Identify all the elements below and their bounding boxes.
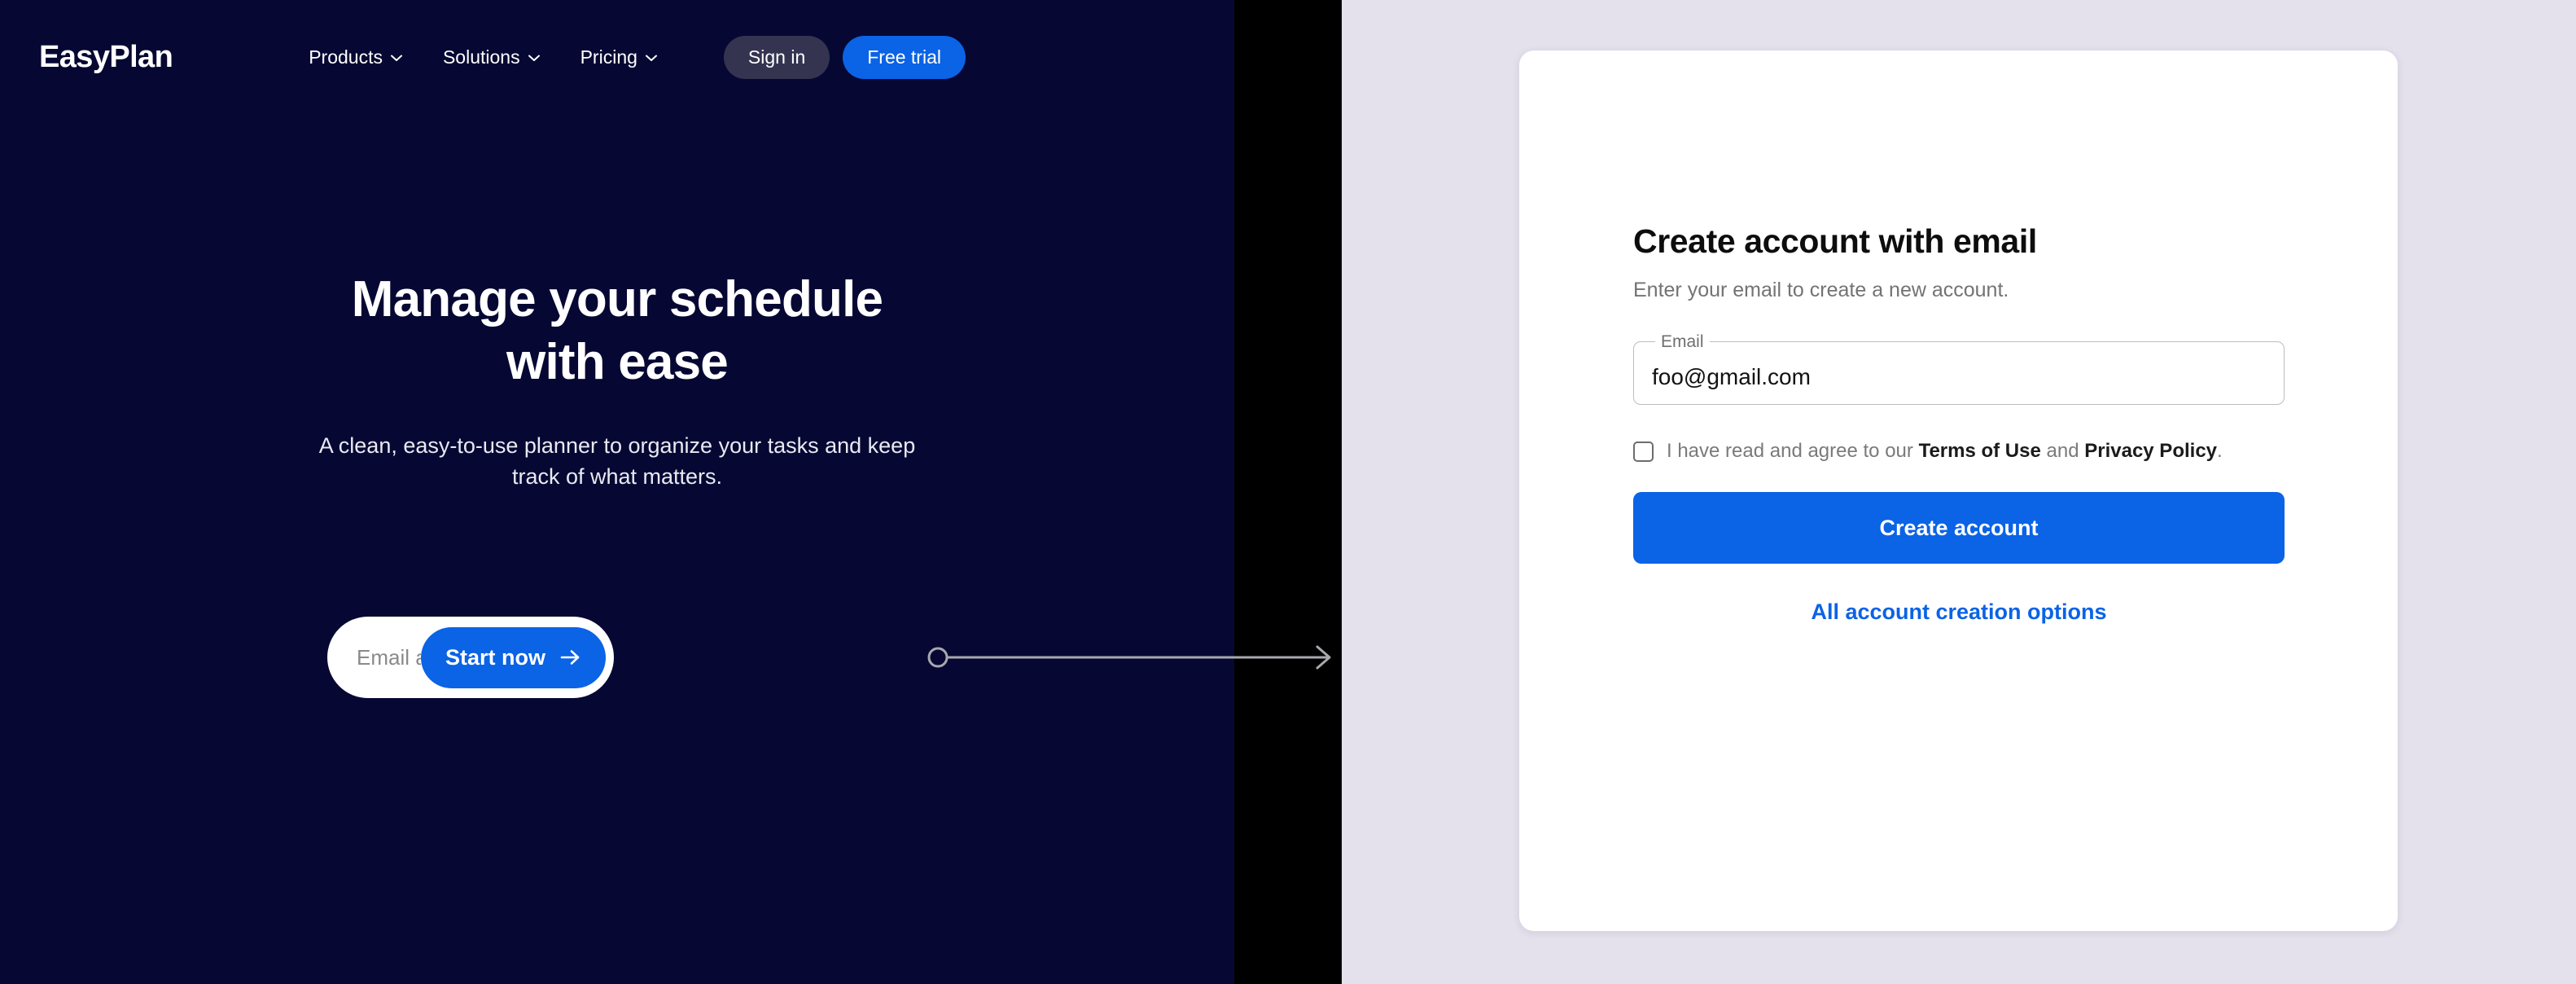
sign-in-button[interactable]: Sign in (724, 36, 830, 79)
marketing-panel: EasyPlan Products Solutions (0, 0, 1234, 984)
terms-suffix: . (2217, 440, 2223, 462)
create-account-card: Create account with email Enter your ema… (1519, 51, 2398, 931)
chevron-down-icon (391, 55, 402, 62)
email-field[interactable] (1652, 364, 2266, 390)
chevron-down-icon (528, 55, 540, 62)
nav-actions: Sign in Free trial (724, 36, 966, 79)
hero-subtitle: A clean, easy-to-use planner to organize… (0, 430, 1234, 493)
hero-section: Manage your schedule with ease A clean, … (0, 269, 1234, 493)
panel-divider-strip (1234, 0, 1342, 984)
page-title: Manage your schedule with ease (0, 269, 1234, 394)
nav-item-solutions[interactable]: Solutions (443, 46, 540, 68)
terms-agreement-text: I have read and agree to our Terms of Us… (1667, 440, 2223, 463)
primary-nav: Products Solutions Pricing (309, 46, 657, 68)
create-account-button[interactable]: Create account (1633, 492, 2285, 564)
card-subtitle: Enter your email to create a new account… (1633, 277, 2285, 304)
card-title: Create account with email (1633, 222, 2285, 261)
arrow-right-icon (560, 648, 581, 666)
email-field-label: Email (1655, 333, 1710, 350)
create-account-card-body: Create account with email Enter your ema… (1633, 222, 2285, 625)
nav-item-pricing[interactable]: Pricing (580, 46, 657, 68)
signup-panel: Create account with email Enter your ema… (1342, 0, 2576, 984)
privacy-policy-link[interactable]: Privacy Policy (2084, 440, 2217, 462)
terms-checkbox[interactable] (1633, 441, 1654, 462)
nav-item-products-label: Products (309, 46, 383, 68)
top-navbar: EasyPlan Products Solutions (0, 0, 1234, 114)
nav-item-products[interactable]: Products (309, 46, 402, 68)
start-now-label: Start now (445, 645, 545, 670)
terms-conjunction: and (2041, 440, 2084, 462)
chevron-down-icon (646, 55, 657, 62)
free-trial-button[interactable]: Free trial (843, 36, 966, 79)
hero-email-input[interactable] (357, 645, 421, 670)
email-field-group: Email (1633, 333, 2285, 405)
terms-of-use-link[interactable]: Terms of Use (1919, 440, 2041, 462)
nav-item-pricing-label: Pricing (580, 46, 637, 68)
brand-logo[interactable]: EasyPlan (39, 42, 173, 72)
nav-item-solutions-label: Solutions (443, 46, 520, 68)
all-account-creation-options-link[interactable]: All account creation options (1633, 600, 2285, 625)
terms-agreement-row: I have read and agree to our Terms of Us… (1633, 440, 2285, 463)
hero-signup-form: Start now (327, 617, 614, 698)
start-now-button[interactable]: Start now (421, 627, 606, 688)
terms-prefix: I have read and agree to our (1667, 440, 1919, 462)
